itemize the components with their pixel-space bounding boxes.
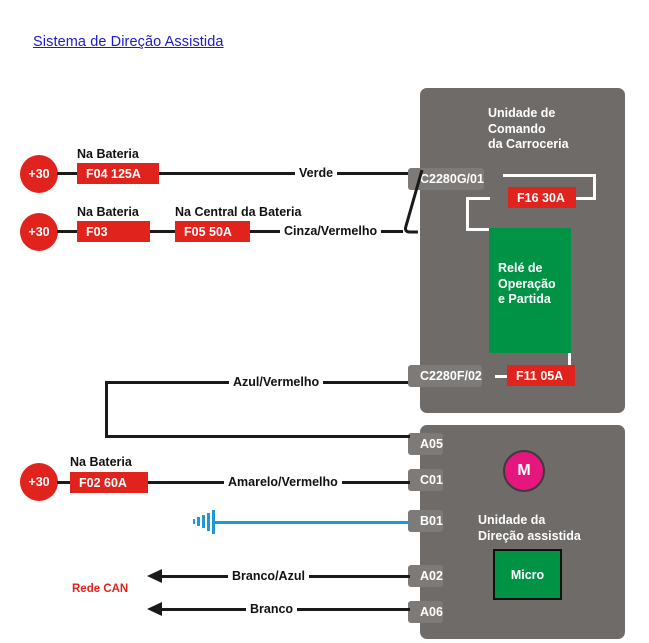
power-node-3: +30 (20, 463, 58, 501)
fuse-f16-label: F16 30A (517, 191, 565, 205)
fuse-f02[interactable]: F02 60A (70, 472, 148, 493)
power-node-1-label: +30 (28, 167, 49, 181)
eps-title-line-2: Direção assistida (478, 529, 581, 545)
caption-na-bateria-1: Na Bateria (77, 147, 139, 161)
pin-a06[interactable]: A06 (408, 601, 443, 623)
wire-azul-vermelho-vertical (105, 381, 108, 438)
relay-label-line-3: e Partida (498, 292, 556, 308)
wire-label-branco: Branco (246, 602, 297, 616)
wire-label-azul-vermelho: Azul/Vermelho (229, 375, 323, 389)
power-node-1: +30 (20, 155, 58, 193)
internal-wire-f16-down (466, 197, 469, 231)
pin-c01[interactable]: C01 (408, 469, 443, 491)
micro-label: Micro (495, 568, 560, 582)
wire-ground-blue (212, 521, 410, 524)
fuse-f05-label: F05 50A (184, 225, 232, 239)
fuse-f05[interactable]: F05 50A (175, 221, 250, 242)
internal-wire-g01-right (503, 174, 596, 177)
body-control-unit-title: Unidade de Comando da Carroceria (488, 106, 569, 153)
relay-label: Relé de Operação e Partida (498, 261, 556, 308)
micro-controller-block[interactable]: Micro (493, 549, 562, 600)
relay-label-line-1: Relé de (498, 261, 556, 277)
fuse-f11[interactable]: F11 05A (507, 365, 575, 386)
caption-na-bateria-2: Na Bateria (77, 205, 139, 219)
power-steering-unit-title: Unidade da Direção assistida (478, 513, 581, 544)
wire-azul-vermelho-to-a05 (105, 435, 410, 438)
start-operation-relay[interactable]: Relé de Operação e Partida (489, 228, 571, 353)
eps-title-line-1: Unidade da (478, 513, 581, 529)
fuse-f04[interactable]: F04 125A (77, 163, 159, 184)
power-node-3-label: +30 (28, 475, 49, 489)
arrow-branco-azul-icon (147, 569, 162, 583)
wire-f03-to-f05 (150, 230, 175, 233)
bcm-title-line-2: Comando (488, 122, 569, 138)
wire-label-verde: Verde (295, 166, 337, 180)
fuse-f03[interactable]: F03 (77, 221, 150, 242)
pin-a05-label: A05 (420, 437, 443, 451)
rede-can-label: Rede CAN (72, 583, 128, 595)
fuse-f04-label: F04 125A (86, 167, 141, 181)
fuse-f02-label: F02 60A (79, 476, 127, 490)
wire-label-cinza-vermelho: Cinza/Vermelho (280, 224, 381, 238)
fuse-f11-label: F11 05A (516, 369, 563, 383)
steering-motor-symbol: M (503, 450, 545, 492)
wire-cinza-vermelho-riser (396, 168, 426, 234)
relay-label-line-2: Operação (498, 277, 556, 293)
pin-a02-label: A02 (420, 569, 443, 583)
wire-node1-to-f04 (57, 172, 77, 175)
internal-wire-g01-down (593, 174, 596, 199)
pin-c2280g-01-label: C2280G/01 (420, 172, 484, 186)
fuse-f03-label: F03 (86, 225, 108, 239)
wire-label-amarelo-vermelho: Amarelo/Vermelho (224, 475, 342, 489)
pin-b01[interactable]: B01 (408, 510, 443, 532)
wire-label-branco-azul: Branco/Azul (228, 569, 309, 583)
page-title: Sistema de Direção Assistida (33, 34, 224, 50)
fuse-f16[interactable]: F16 30A (508, 187, 576, 208)
motor-label: M (517, 462, 530, 480)
pin-a02[interactable]: A02 (408, 565, 443, 587)
bcm-title-line-1: Unidade de (488, 106, 569, 122)
pin-b01-label: B01 (420, 514, 443, 528)
wire-verde (159, 172, 408, 175)
power-node-2: +30 (20, 213, 58, 251)
internal-wire-f16-left-stub (466, 197, 490, 200)
caption-na-central-bateria: Na Central da Bateria (175, 205, 301, 219)
pin-c2280f-02[interactable]: C2280F/02 (408, 365, 482, 387)
caption-na-bateria-3: Na Bateria (70, 455, 132, 469)
pin-a06-label: A06 (420, 605, 443, 619)
bcm-title-line-3: da Carroceria (488, 137, 569, 153)
ground-icon (193, 510, 217, 534)
internal-wire-f16-right-stub (575, 197, 596, 200)
wiring-diagram-canvas: Sistema de Direção Assistida Unidade de … (0, 0, 649, 643)
pin-a05[interactable]: A05 (408, 433, 443, 455)
arrow-branco-icon (147, 602, 162, 616)
pin-c01-label: C01 (420, 473, 443, 487)
power-node-2-label: +30 (28, 225, 49, 239)
wire-node3-to-f02 (57, 481, 70, 484)
pin-c2280f-02-label: C2280F/02 (420, 369, 482, 383)
wire-node2-to-f03 (57, 230, 77, 233)
